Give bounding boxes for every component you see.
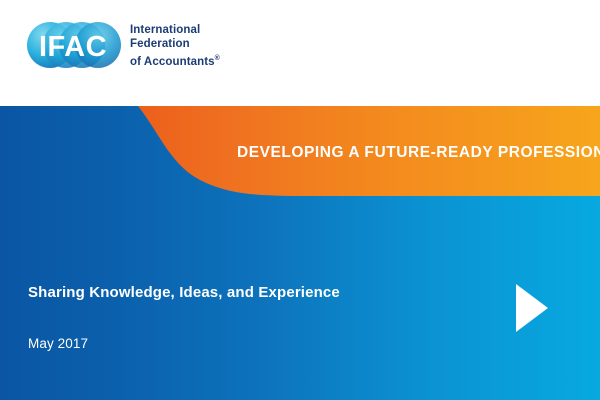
wordmark-line-1: International — [130, 23, 220, 38]
wordmark-line-2: Federation — [130, 37, 220, 52]
slide-subtitle: Sharing Knowledge, Ideas, and Experience — [28, 284, 340, 301]
slide-date: May 2017 — [28, 336, 88, 351]
banner-headline: DEVELOPING A FUTURE-READY PROFESSION — [237, 144, 600, 162]
registered-trademark-symbol: ® — [215, 55, 220, 62]
play-triangle-icon[interactable] — [515, 283, 549, 333]
wordmark-line-3-text: of Accountants — [130, 56, 215, 68]
ifac-overlapping-circles-logo-icon: IFAC — [26, 14, 122, 78]
wordmark-line-3: of Accountants® — [130, 52, 220, 69]
slide-header: IFAC International Federation of Account… — [0, 0, 600, 106]
svg-text:IFAC: IFAC — [39, 31, 107, 63]
ifac-wordmark: International Federation of Accountants® — [130, 23, 220, 69]
ifac-logo: IFAC International Federation of Account… — [26, 14, 220, 78]
presentation-title-slide: IFAC International Federation of Account… — [0, 0, 600, 400]
